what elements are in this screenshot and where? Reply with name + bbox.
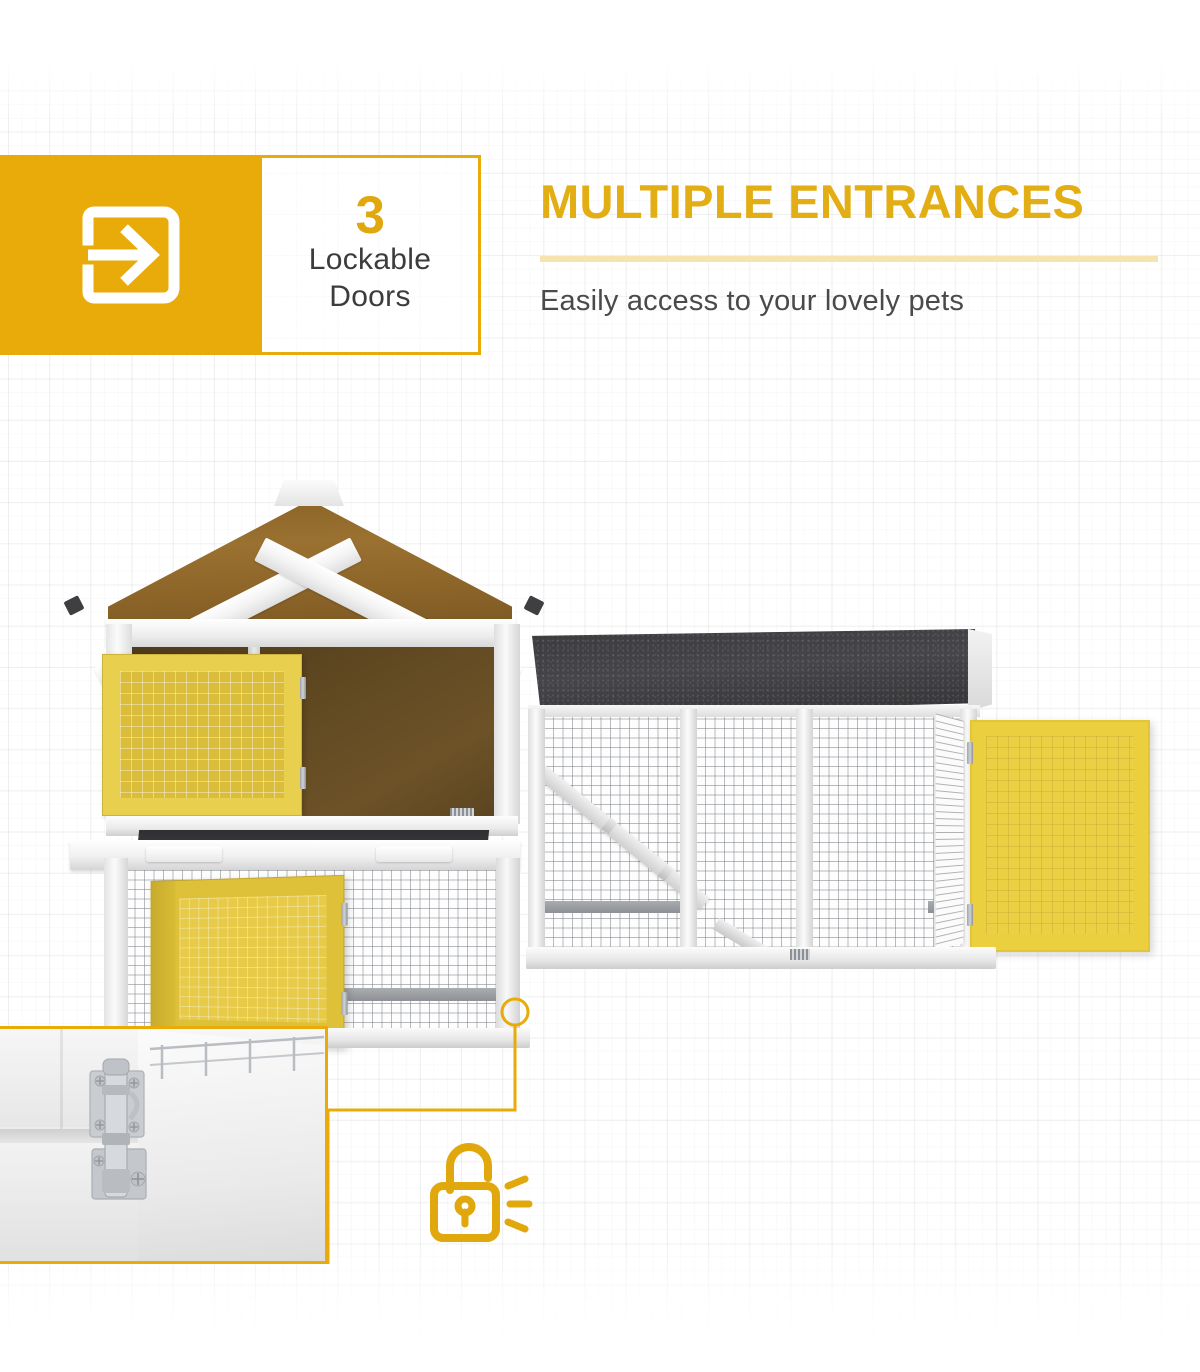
gable-cross-beam xyxy=(106,619,516,647)
roof-end-cap xyxy=(523,595,544,616)
badge-label-line-2: Doors xyxy=(329,279,411,316)
headline-subtitle: Easily access to your lovely pets xyxy=(540,283,1200,319)
run-section xyxy=(528,605,1048,1035)
run-corner-post xyxy=(680,709,697,959)
roof-end-cap xyxy=(63,595,84,616)
tray-handle[interactable] xyxy=(376,846,452,862)
run-enclosure xyxy=(534,709,974,955)
inset-panel-seam xyxy=(60,1029,63,1129)
base-latch xyxy=(790,949,810,960)
run-open-side-wall xyxy=(934,713,965,951)
hutch-house-section xyxy=(60,458,560,1068)
badge-label-line-1: Lockable xyxy=(309,242,432,279)
enter-door-arrow-icon xyxy=(72,196,190,314)
door-edge-shading xyxy=(152,881,176,1041)
run-base-frame xyxy=(526,947,996,969)
run-roof-trim xyxy=(968,629,992,711)
headline-title: MULTIPLE ENTRANCES xyxy=(540,178,1180,225)
slide-out-tray-front[interactable] xyxy=(70,840,520,870)
yellow-wire-door-run[interactable] xyxy=(970,720,1150,952)
run-top-frame xyxy=(528,705,980,717)
upper-right-post xyxy=(494,624,520,824)
door-mesh-panel xyxy=(179,895,326,1023)
lower-right-post xyxy=(496,858,520,1036)
product-photo xyxy=(0,430,1200,1070)
door-hinge xyxy=(967,742,973,764)
badge-text-container: 3 Lockable Doors xyxy=(262,155,481,355)
unlocked-padlock-icon xyxy=(424,1134,546,1252)
door-hinge xyxy=(967,904,973,926)
badge-count: 3 xyxy=(356,190,385,242)
run-corner-post xyxy=(796,709,813,959)
headline-divider xyxy=(540,256,1158,262)
door-mesh-panel xyxy=(120,671,284,798)
slide-bolt-latch-icon xyxy=(86,1057,166,1223)
run-wire-mesh xyxy=(534,709,974,955)
lockable-doors-badge: 3 Lockable Doors xyxy=(0,155,481,355)
door-hinge xyxy=(300,677,306,699)
door-hinge xyxy=(341,903,347,926)
badge-icon-container xyxy=(0,155,262,355)
run-mid-rail xyxy=(538,901,686,913)
inset-wire-mesh xyxy=(148,1035,326,1081)
tray-handle[interactable] xyxy=(146,846,222,862)
door-hinge xyxy=(341,992,347,1015)
door-mesh-panel xyxy=(986,736,1134,934)
door-hinge xyxy=(300,767,306,789)
roof-ridge-cap xyxy=(274,480,344,506)
infographic-canvas: 3 Lockable Doors MULTIPLE ENTRANCES Easi… xyxy=(0,0,1200,1372)
yellow-wire-door-lower[interactable] xyxy=(151,875,345,1047)
yellow-wire-door-upper[interactable] xyxy=(102,654,302,816)
asphalt-felt-roof xyxy=(532,629,984,715)
slide-bolt-latch-closeup xyxy=(0,1026,328,1264)
lower-left-post xyxy=(104,858,128,1036)
